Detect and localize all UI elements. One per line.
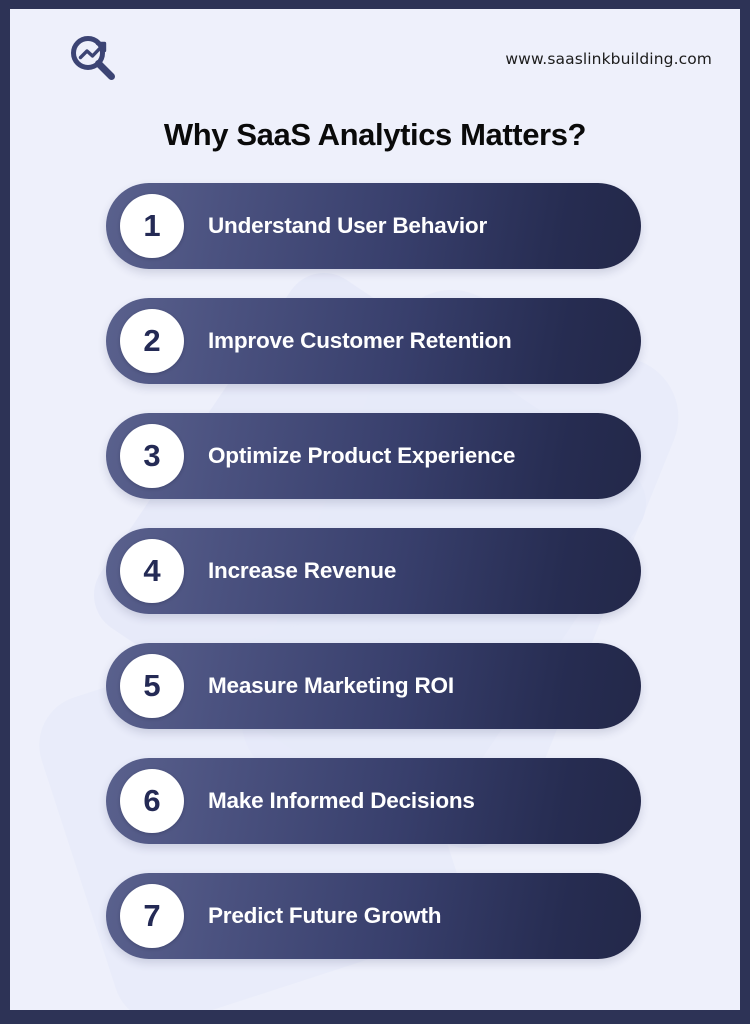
- list-item-label: Increase Revenue: [208, 558, 396, 584]
- list-item-number: 5: [120, 654, 184, 718]
- list-item[interactable]: 3 Optimize Product Experience: [106, 413, 641, 499]
- list-item-label: Predict Future Growth: [208, 903, 441, 929]
- list-item-number: 4: [120, 539, 184, 603]
- poster-frame: www.saaslinkbuilding.com Why SaaS Analyt…: [0, 0, 750, 1024]
- list-item-label: Improve Customer Retention: [208, 328, 512, 354]
- list-item-label: Optimize Product Experience: [208, 443, 515, 469]
- list-item-number: 1: [120, 194, 184, 258]
- list-item[interactable]: 1 Understand User Behavior: [106, 183, 641, 269]
- list-item-number: 2: [120, 309, 184, 373]
- list-item[interactable]: 6 Make Informed Decisions: [106, 758, 641, 844]
- list-item-number: 7: [120, 884, 184, 948]
- magnifier-trend-arrow-icon: [66, 31, 122, 87]
- reasons-list: 1 Understand User Behavior 2 Improve Cus…: [10, 183, 740, 959]
- list-item-label: Understand User Behavior: [208, 213, 487, 239]
- header: www.saaslinkbuilding.com: [10, 9, 740, 87]
- list-item[interactable]: 5 Measure Marketing ROI: [106, 643, 641, 729]
- list-item[interactable]: 2 Improve Customer Retention: [106, 298, 641, 384]
- list-item[interactable]: 4 Increase Revenue: [106, 528, 641, 614]
- list-item-label: Make Informed Decisions: [208, 788, 475, 814]
- list-item-number: 3: [120, 424, 184, 488]
- list-item[interactable]: 7 Predict Future Growth: [106, 873, 641, 959]
- poster-canvas: www.saaslinkbuilding.com Why SaaS Analyt…: [10, 9, 740, 1010]
- brand-logo: [66, 31, 122, 87]
- site-url: www.saaslinkbuilding.com: [505, 50, 712, 68]
- page-title: Why SaaS Analytics Matters?: [10, 117, 740, 153]
- list-item-label: Measure Marketing ROI: [208, 673, 454, 699]
- list-item-number: 6: [120, 769, 184, 833]
